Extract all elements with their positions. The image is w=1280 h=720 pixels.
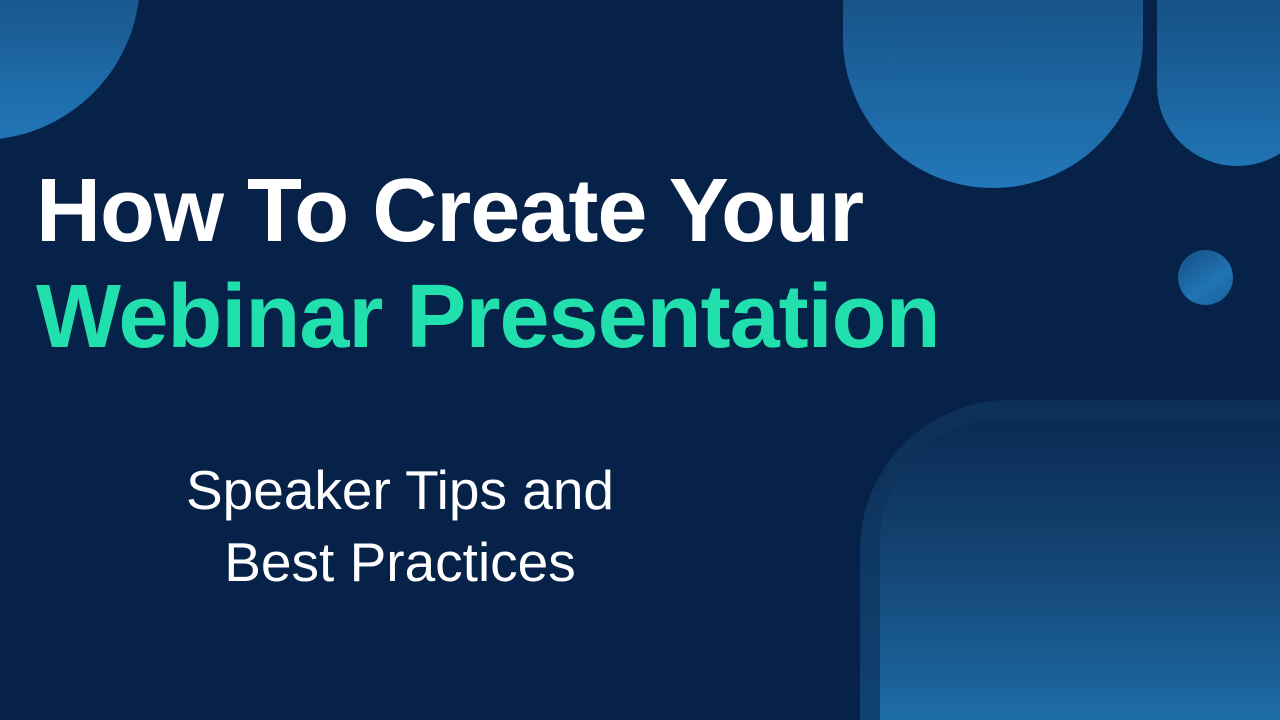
subtitle-line-2: Best Practices [60,527,740,599]
title-line-accent: Webinar Presentation [36,264,1196,370]
title-line-primary: How To Create Your [36,158,1196,264]
slide-title: How To Create Your Webinar Presentation [36,158,1196,370]
slide-content: How To Create Your Webinar Presentation … [0,0,1280,720]
presentation-slide: How To Create Your Webinar Presentation … [0,0,1280,720]
slide-subtitle: Speaker Tips and Best Practices [60,455,740,598]
subtitle-line-1: Speaker Tips and [60,455,740,527]
